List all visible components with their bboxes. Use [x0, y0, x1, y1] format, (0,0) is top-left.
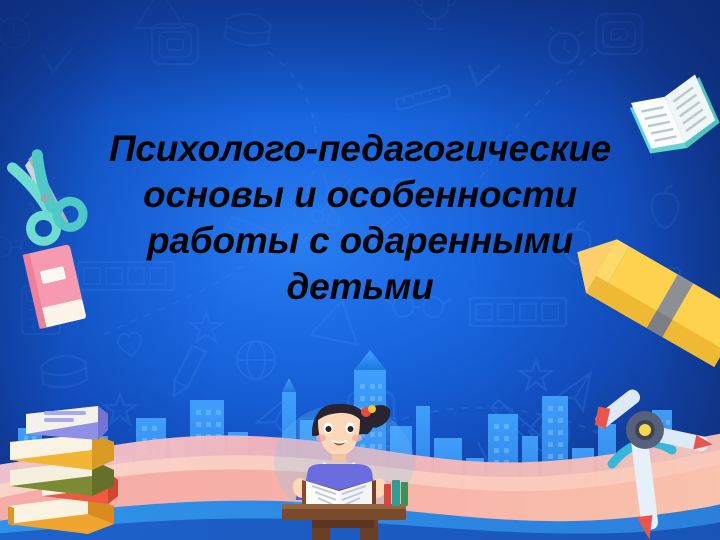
title-line-3: работы с одаренными [46, 218, 674, 264]
title-line-4: детьми [46, 264, 674, 310]
girl-reading-icon [268, 396, 448, 540]
drawing-compass-icon [592, 392, 720, 540]
title-line-1: Психолого-педагогические [46, 126, 674, 172]
slide-title: Психолого-педагогические основы и особен… [46, 126, 674, 310]
title-line-2: основы и особенности [46, 172, 674, 218]
book-stack-icon [0, 388, 122, 538]
presentation-slide: Психолого-педагогические основы и особен… [0, 0, 720, 540]
